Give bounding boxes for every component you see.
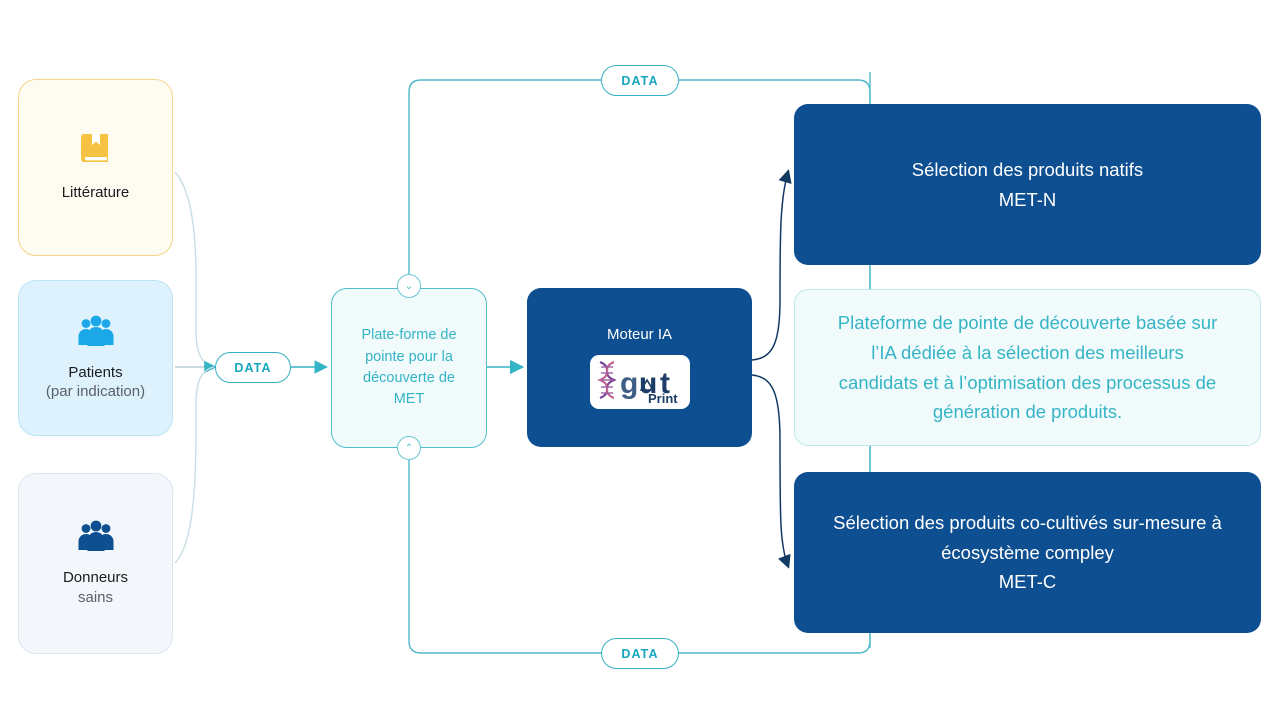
source-card-donors[interactable]: Donneurs sains — [18, 473, 173, 654]
chevron-up-icon[interactable]: ⌃ — [397, 436, 421, 460]
description-text: Plateforme de pointe de découverte basée… — [838, 308, 1218, 428]
gutprint-logo: g u t Print — [590, 355, 690, 409]
dna-helix-icon — [600, 362, 614, 398]
source-label-patients: Patients — [68, 363, 122, 382]
description-line-3: candidats et à l’optimisation des proces… — [839, 372, 1216, 393]
data-pill-top[interactable]: DATA — [601, 65, 679, 96]
description-line-1: Plateforme de pointe de découverte basée… — [838, 312, 1218, 333]
wire-engine-to-met-c — [752, 375, 788, 566]
outcome-box-met-n[interactable]: Sélection des produits natifs MET-N — [794, 104, 1261, 265]
outcome-line-1: Sélection des produits co-cultivés sur-m… — [833, 512, 1222, 533]
wire-engine-to-met-n — [752, 172, 788, 360]
description-line-4: génération de produits. — [933, 401, 1122, 422]
outcome-box-met-c[interactable]: Sélection des produits co-cultivés sur-m… — [794, 472, 1261, 633]
chevron-down-icon[interactable]: ⌄ — [397, 274, 421, 298]
outcome-text-met-n: Sélection des produits natifs MET-N — [912, 155, 1143, 215]
people-group-icon — [77, 520, 115, 552]
wire-donors-to-data — [175, 367, 214, 563]
source-sublabel-donors: sains — [78, 588, 113, 607]
svg-text:Print: Print — [648, 391, 678, 405]
outcome-line-2: écosystème compley — [941, 542, 1114, 563]
source-card-patients[interactable]: Patients (par indication) — [18, 280, 173, 436]
ai-engine-node[interactable]: Moteur IA g u t Print — [527, 288, 752, 447]
source-label-donors: Donneurs — [63, 568, 128, 587]
diagram-canvas: Littérature Patients (par indication) — [0, 0, 1280, 720]
outcome-text-met-c: Sélection des produits co-cultivés sur-m… — [833, 508, 1222, 598]
source-card-literature[interactable]: Littérature — [18, 79, 173, 256]
wire-bottom-loop-left — [409, 460, 601, 653]
source-sublabel-patients: (par indication) — [46, 382, 145, 401]
source-label-literature: Littérature — [62, 183, 130, 202]
description-box: Plateforme de pointe de découverte basée… — [794, 289, 1261, 446]
outcome-line-2: MET-N — [999, 189, 1057, 210]
platform-label: Plate-forme de pointe pour la découverte… — [346, 325, 472, 411]
wire-top-loop-left — [409, 80, 601, 274]
svg-text:g: g — [620, 367, 638, 400]
outcome-line-1: Sélection des produits natifs — [912, 159, 1143, 180]
ai-engine-title: Moteur IA — [607, 326, 672, 343]
data-pill-bottom[interactable]: DATA — [601, 638, 679, 669]
outcome-line-3: MET-C — [999, 571, 1057, 592]
platform-node[interactable]: Plate-forme de pointe pour la découverte… — [331, 288, 487, 448]
description-line-2: l’IA dédiée à la sélection des meilleurs — [871, 342, 1184, 363]
data-pill-left[interactable]: DATA — [215, 352, 291, 383]
book-icon — [81, 133, 111, 167]
wire-literature-to-data — [175, 172, 214, 367]
people-group-icon — [77, 315, 115, 347]
